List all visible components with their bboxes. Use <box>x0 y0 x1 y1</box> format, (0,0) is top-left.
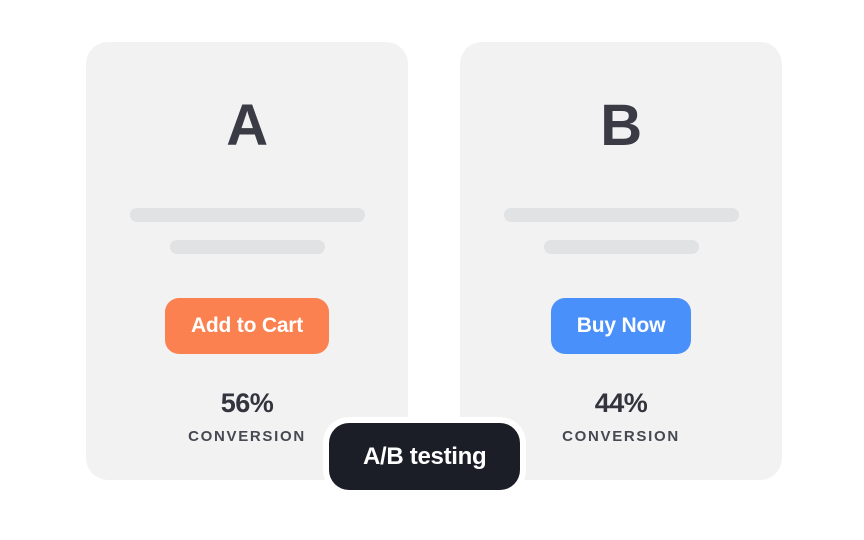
ab-testing-badge: A/B testing <box>329 423 520 490</box>
variant-card-b[interactable]: B Buy Now 44% CONVERSION <box>460 42 782 480</box>
cta-button-add-to-cart[interactable]: Add to Cart <box>165 298 329 354</box>
conversion-label-b: CONVERSION <box>562 429 680 444</box>
cta-button-buy-now[interactable]: Buy Now <box>551 298 691 354</box>
content-placeholder-b <box>460 208 782 254</box>
conversion-label-a: CONVERSION <box>188 429 306 444</box>
ab-testing-badge-ring: A/B testing <box>323 417 526 496</box>
content-placeholder-a <box>86 208 408 254</box>
ab-testing-badge-label: A/B testing <box>363 443 486 471</box>
skeleton-bar-secondary <box>170 240 325 254</box>
skeleton-bar-primary <box>504 208 739 222</box>
skeleton-bar-secondary <box>544 240 699 254</box>
ab-testing-illustration: A Add to Cart 56% CONVERSION B Buy Now 4… <box>0 0 864 540</box>
variant-letter-a: A <box>226 97 267 155</box>
conversion-stat-a: 56% CONVERSION <box>188 390 306 444</box>
conversion-value-a: 56% <box>221 390 274 417</box>
variant-card-a[interactable]: A Add to Cart 56% CONVERSION <box>86 42 408 480</box>
skeleton-bar-primary <box>130 208 365 222</box>
variant-letter-b: B <box>600 97 641 155</box>
conversion-value-b: 44% <box>595 390 648 417</box>
conversion-stat-b: 44% CONVERSION <box>562 390 680 444</box>
